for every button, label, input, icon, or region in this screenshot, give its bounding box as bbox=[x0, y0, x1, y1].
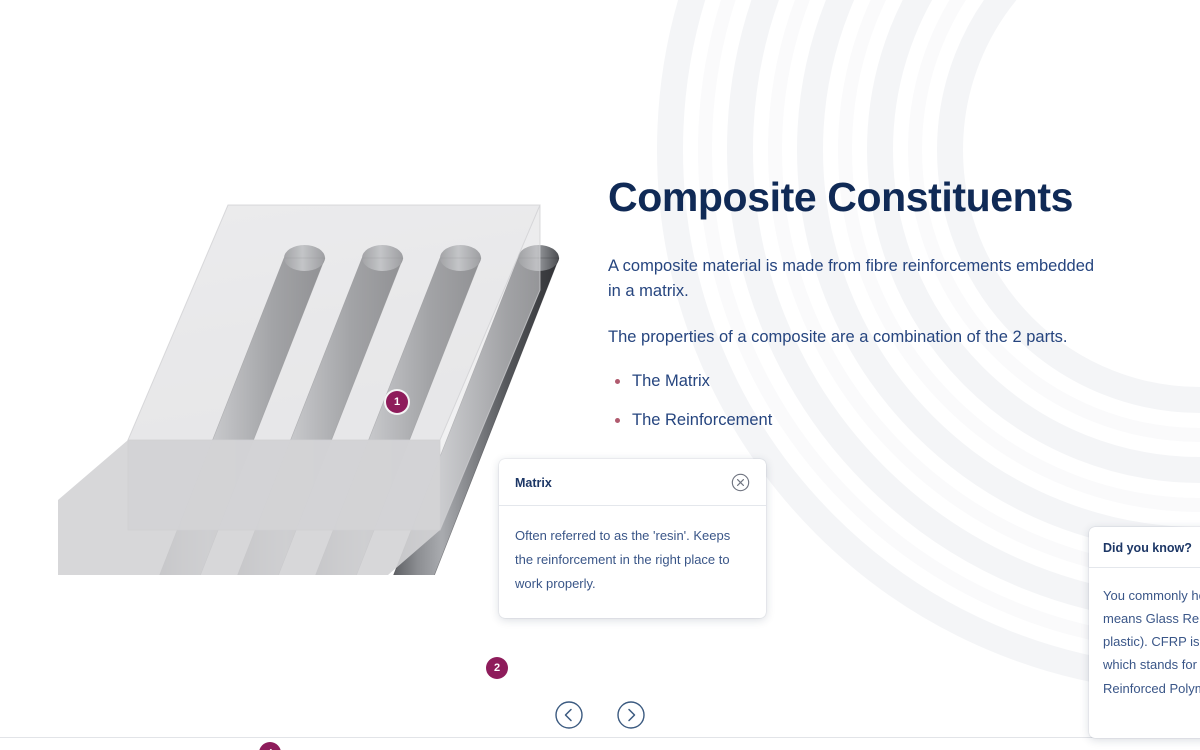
list-item: The Reinforcement bbox=[608, 408, 1153, 433]
chevron-right-icon[interactable] bbox=[616, 700, 646, 730]
diagram-marker-1[interactable]: 1 bbox=[386, 391, 408, 413]
popover-body: Often referred to as the 'resin'. Keeps … bbox=[499, 506, 766, 618]
list-item: The Matrix bbox=[608, 369, 1153, 394]
matrix-slab-transparent-faces bbox=[58, 205, 540, 575]
diagram-marker-2[interactable]: 2 bbox=[486, 657, 508, 679]
matrix-popover: Matrix Often referred to as the 'resin'.… bbox=[499, 459, 766, 618]
diagram-marker-info-icon[interactable]: i bbox=[259, 742, 281, 750]
slide-canvas: 1 2 i Composite Constituents A composite… bbox=[0, 0, 1200, 750]
page-title: Composite Constituents bbox=[608, 175, 1153, 221]
did-you-know-card: Did you know? You commonly hear GRP whic… bbox=[1089, 527, 1200, 738]
slide-content: Composite Constituents A composite mater… bbox=[608, 175, 1153, 447]
footer-divider bbox=[0, 737, 1200, 738]
popover-title: Matrix bbox=[515, 476, 552, 490]
popover-header: Matrix bbox=[499, 459, 766, 506]
did-you-know-title: Did you know? bbox=[1103, 541, 1200, 555]
chevron-left-icon[interactable] bbox=[554, 700, 584, 730]
close-circle-icon[interactable] bbox=[731, 473, 750, 492]
properties-paragraph: The properties of a composite are a comb… bbox=[608, 325, 1098, 350]
did-you-know-body: You commonly hear GRP which means Glass … bbox=[1089, 568, 1200, 738]
intro-paragraph: A composite material is made from fibre … bbox=[608, 254, 1098, 304]
constituents-list: The Matrix The Reinforcement bbox=[608, 369, 1153, 433]
did-you-know-header: Did you know? bbox=[1089, 527, 1200, 568]
slide-navigation bbox=[0, 700, 1200, 730]
